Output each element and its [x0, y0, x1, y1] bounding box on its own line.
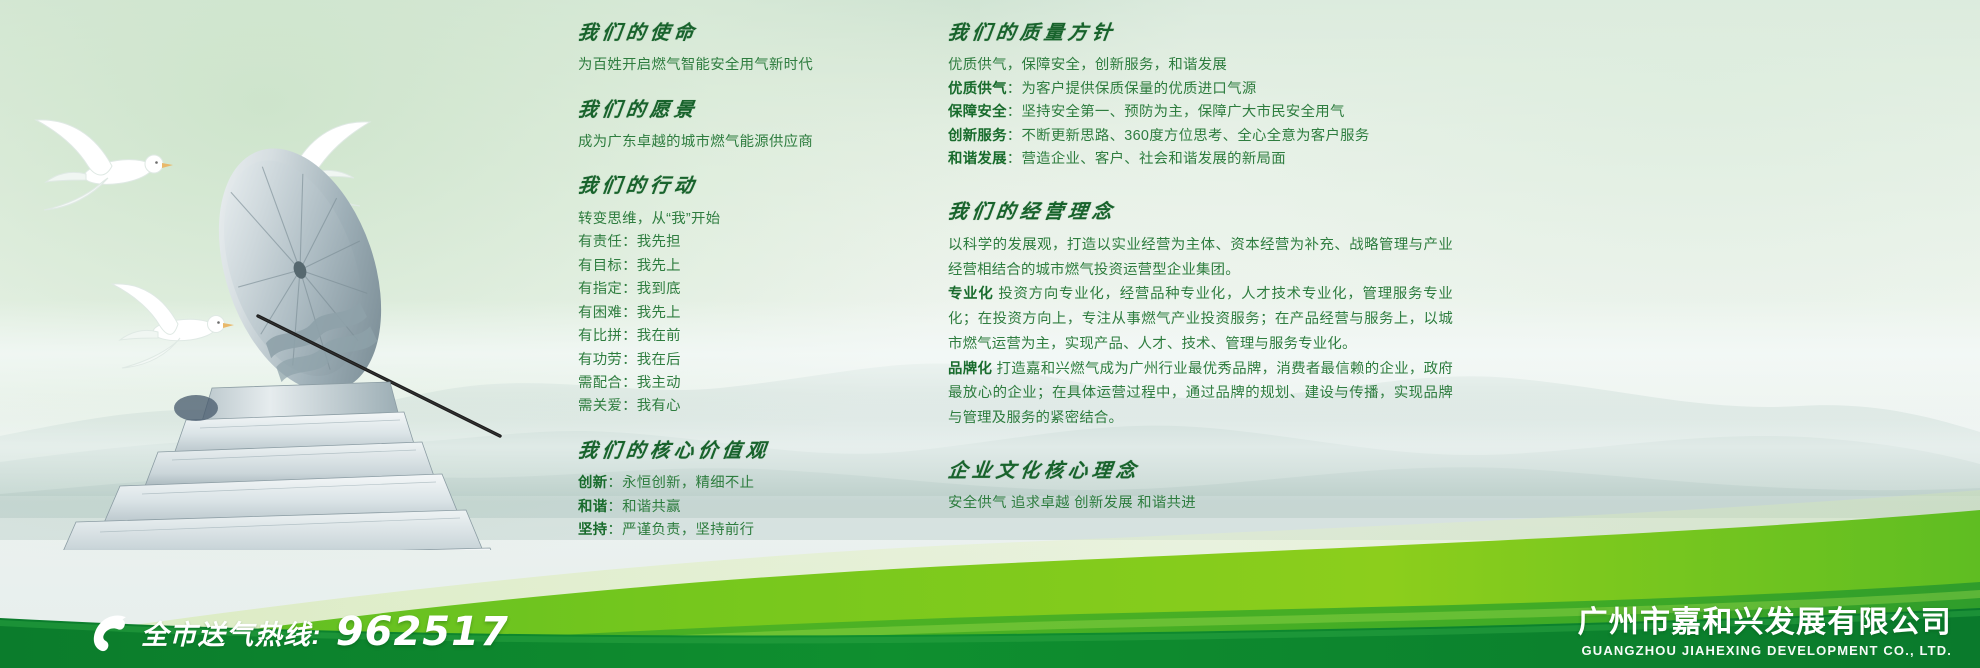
culture-core-block: 企业文化核心理念 安全供气 追求卓越 创新发展 和谐共进 — [948, 456, 1453, 516]
mission-block: 我们的使命 为百姓开启燃气智能安全用气新时代 — [578, 18, 923, 78]
quality-policy-text: ：坚持安全第一、预防为主，保障广大市民安全用气 — [1007, 104, 1345, 120]
action-line: 有责任：我先担 — [578, 231, 923, 254]
dove-icon — [228, 112, 378, 212]
core-value-text: ：永恒创新，精细不止 — [607, 475, 754, 491]
core-value-text: ：和谐共赢 — [607, 499, 680, 515]
business-philosophy-paragraph: 品牌化 打造嘉和兴燃气成为广州行业最优秀品牌，消费者最信赖的企业，政府最放心的企… — [948, 357, 1453, 431]
philosophy-text: 投资方向专业化，经营品种专业化，人才技术专业化，管理服务专业化；在投资方向上，专… — [948, 286, 1453, 352]
business-philosophy-lead: 以科学的发展观，打造以实业经营为主体、资本经营为补充、战略管理与产业经营相结合的… — [948, 233, 1453, 283]
core-values-block: 我们的核心价值观 创新：永恒创新，精细不止 和谐：和谐共赢 坚持：严谨负责，坚持… — [578, 436, 923, 543]
core-value-label: 创新 — [578, 475, 607, 491]
hotline-number: 962517 — [336, 609, 509, 655]
action-line: 有指定：我到底 — [578, 278, 923, 301]
mission-line: 为百姓开启燃气智能安全用气新时代 — [578, 54, 923, 77]
company-name-en: GUANGZHOU JIAHEXING DEVELOPMENT CO., LTD… — [1578, 643, 1952, 658]
action-line: 有困难：我先上 — [578, 302, 923, 325]
core-value-label: 坚持 — [578, 522, 607, 538]
core-value-item: 和谐：和谐共赢 — [578, 496, 923, 519]
quality-policy-item: 创新服务：不断更新思路、360度方位思考、全心全意为客户服务 — [948, 125, 1453, 148]
dove-icon — [108, 268, 268, 378]
core-values-heading: 我们的核心价值观 — [576, 436, 925, 465]
core-value-label: 和谐 — [578, 499, 607, 515]
core-value-text: ：严谨负责，坚持前行 — [607, 522, 754, 538]
quality-policy-heading: 我们的质量方针 — [946, 18, 1455, 47]
quality-policy-label: 优质供气 — [948, 81, 1007, 97]
action-block: 我们的行动 转变思维，从“我”开始 有责任：我先担 有目标：我先上 有指定：我到… — [578, 171, 923, 418]
quality-policy-lead: 优质供气，保障安全，创新服务，和谐发展 — [948, 54, 1453, 77]
left-text-column: 我们的使命 为百姓开启燃气智能安全用气新时代 我们的愿景 成为广东卓越的城市燃气… — [578, 18, 923, 543]
action-line: 需配合：我主动 — [578, 372, 923, 395]
core-value-item: 坚持：严谨负责，坚持前行 — [578, 519, 923, 542]
vision-block: 我们的愿景 成为广东卓越的城市燃气能源供应商 — [578, 95, 923, 155]
vision-line: 成为广东卓越的城市燃气能源供应商 — [578, 131, 923, 154]
action-line: 有目标：我先上 — [578, 255, 923, 278]
hotline-label: 全市送气热线: — [141, 613, 322, 652]
business-philosophy-block: 我们的经营理念 以科学的发展观，打造以实业经营为主体、资本经营为补充、战略管理与… — [948, 197, 1453, 431]
vision-heading: 我们的愿景 — [576, 95, 925, 124]
quality-policy-label: 创新服务 — [948, 128, 1007, 144]
quality-policy-item: 和谐发展：营造企业、客户、社会和谐发展的新局面 — [948, 148, 1453, 171]
philosophy-text: 打造嘉和兴燃气成为广州行业最优秀品牌，消费者最信赖的企业，政府最放心的企业；在具… — [948, 361, 1453, 427]
quality-policy-text: ：为客户提供保质保量的优质进口气源 — [1007, 81, 1257, 97]
business-philosophy-heading: 我们的经营理念 — [946, 197, 1455, 226]
quality-policy-block: 我们的质量方针 优质供气，保障安全，创新服务，和谐发展 优质供气：为客户提供保质… — [948, 18, 1453, 172]
company-name-cn: 广州市嘉和兴发展有限公司 — [1578, 605, 1952, 640]
philosophy-label: 品牌化 — [948, 361, 992, 377]
quality-policy-item: 优质供气：为客户提供保质保量的优质进口气源 — [948, 78, 1453, 101]
culture-core-heading: 企业文化核心理念 — [946, 456, 1455, 485]
core-value-item: 创新：永恒创新，精细不止 — [578, 472, 923, 495]
stone-sundial-monument — [0, 120, 520, 550]
right-text-column: 我们的质量方针 优质供气，保障安全，创新服务，和谐发展 优质供气：为客户提供保质… — [948, 18, 1453, 516]
action-line: 转变思维，从“我”开始 — [578, 208, 923, 231]
philosophy-label: 专业化 — [948, 286, 994, 302]
action-line: 需关爱：我有心 — [578, 395, 923, 418]
hotline-group: 全市送气热线: 962517 — [88, 609, 509, 655]
phone-handset-icon — [88, 609, 132, 655]
action-heading: 我们的行动 — [576, 171, 925, 200]
culture-core-line: 安全供气 追求卓越 创新发展 和谐共进 — [948, 492, 1453, 515]
quality-policy-text: ：不断更新思路、360度方位思考、全心全意为客户服务 — [1007, 128, 1370, 144]
quality-policy-label: 保障安全 — [948, 104, 1007, 120]
action-line: 有比拼：我在前 — [578, 325, 923, 348]
business-philosophy-paragraph: 专业化 投资方向专业化，经营品种专业化，人才技术专业化，管理服务专业化；在投资方… — [948, 282, 1453, 356]
action-line: 有功劳：我在后 — [578, 349, 923, 372]
banner-canvas: 我们的使命 为百姓开启燃气智能安全用气新时代 我们的愿景 成为广东卓越的城市燃气… — [0, 0, 1980, 668]
dove-icon — [26, 108, 206, 218]
mission-heading: 我们的使命 — [576, 18, 925, 47]
quality-policy-label: 和谐发展 — [948, 151, 1007, 167]
company-brand: 广州市嘉和兴发展有限公司 GUANGZHOU JIAHEXING DEVELOP… — [1578, 605, 1952, 658]
quality-policy-item: 保障安全：坚持安全第一、预防为主，保障广大市民安全用气 — [948, 101, 1453, 124]
quality-policy-text: ：营造企业、客户、社会和谐发展的新局面 — [1007, 151, 1286, 167]
